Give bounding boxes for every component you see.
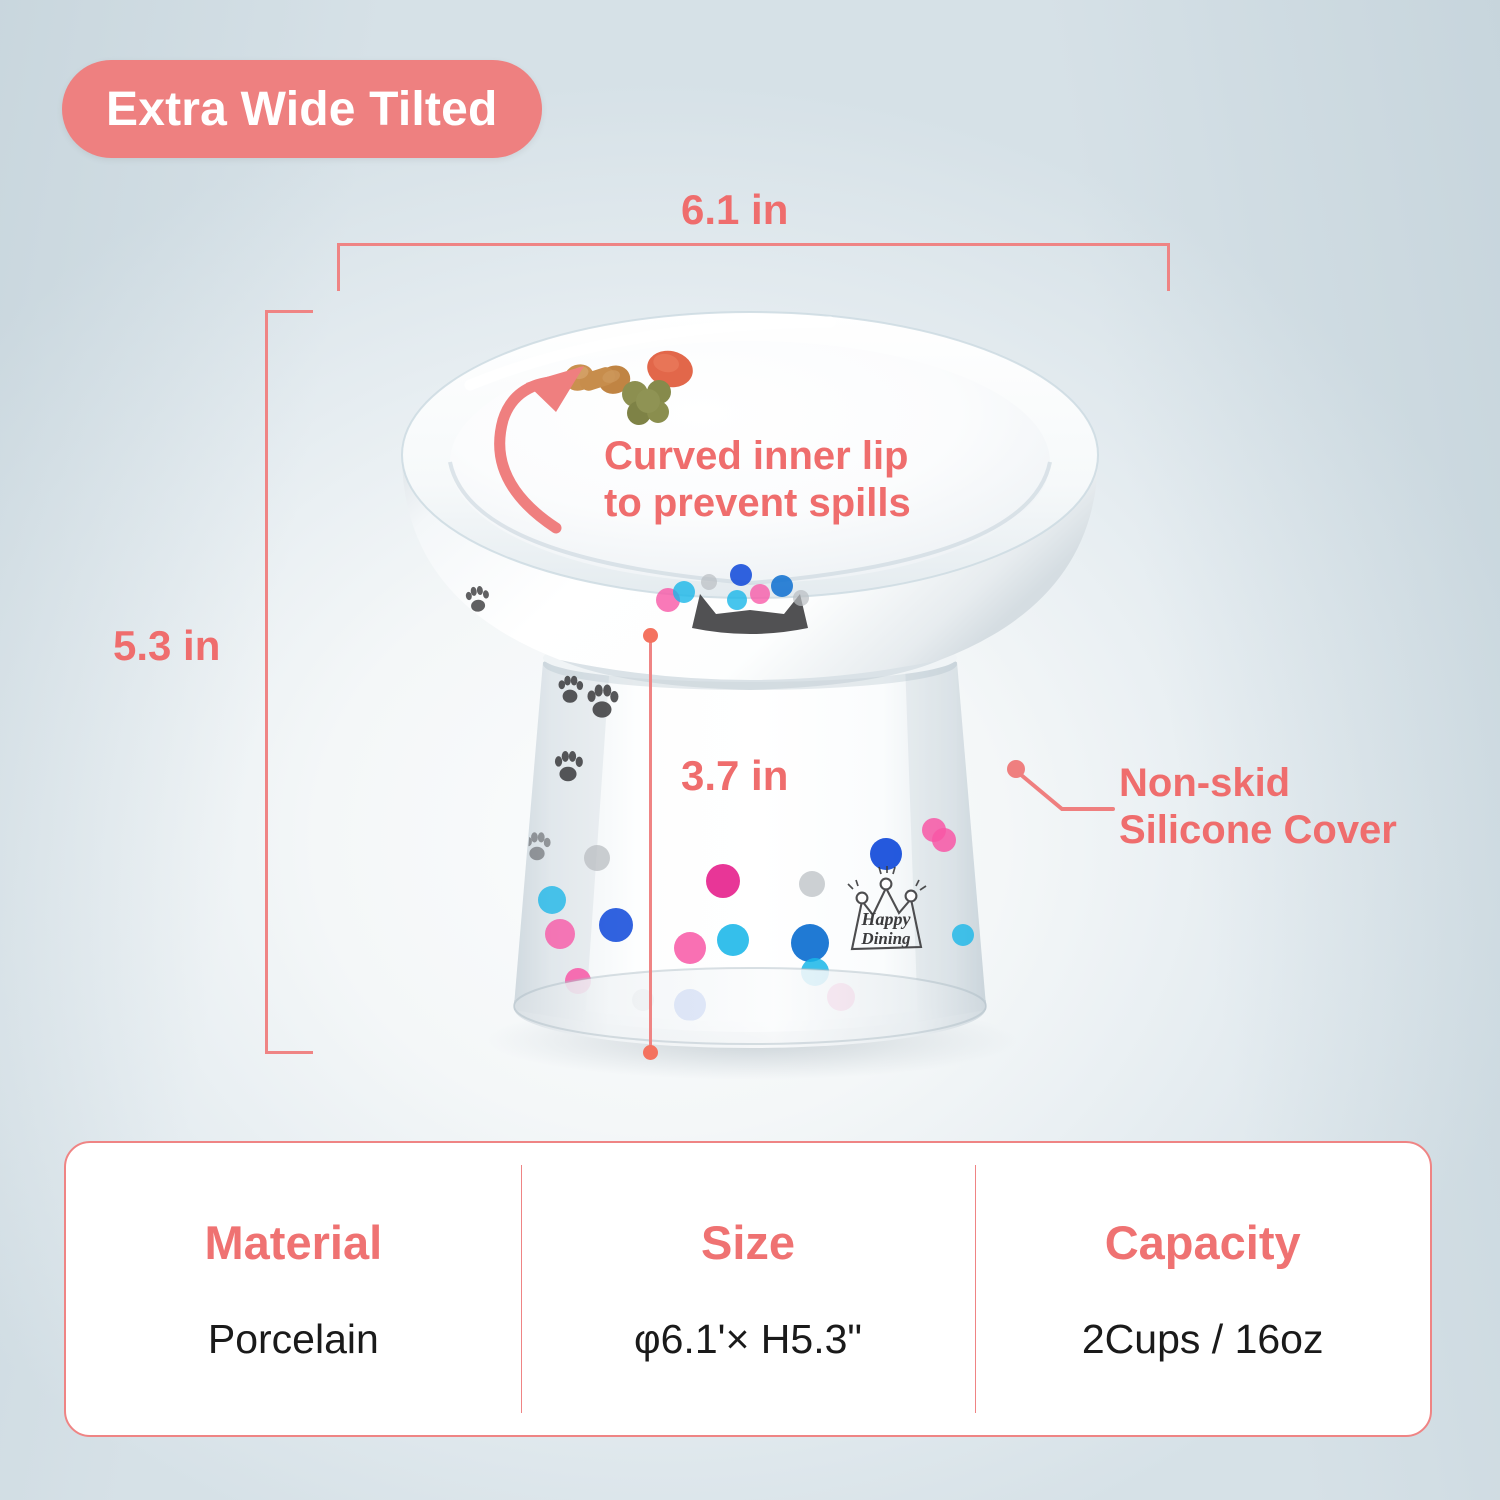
happy-dining-crown-text: Happy Dining (860, 909, 911, 948)
height-dimension-line (265, 310, 268, 1054)
spec-column-capacity: Capacity 2Cups / 16oz (975, 1143, 1430, 1435)
pedestal-dimension-dot-bottom (643, 1045, 658, 1060)
spec-value-capacity: 2Cups / 16oz (1082, 1316, 1324, 1363)
width-dimension-label: 6.1 in (681, 186, 788, 234)
spec-column-size: Size φ6.1'× H5.3" (521, 1143, 976, 1435)
silicone-leader-line (1000, 755, 1130, 830)
width-dimension-line (337, 243, 1170, 246)
width-dimension-tick-left (337, 243, 340, 291)
spec-value-material: Porcelain (208, 1316, 379, 1363)
spec-value-size: φ6.1'× H5.3" (634, 1316, 862, 1363)
feature-badge: Extra Wide Tilted (62, 60, 542, 158)
callout-curved-lip-line1: Curved inner lip (604, 433, 911, 480)
height-dimension-tick-bottom (265, 1051, 313, 1054)
callout-silicone-line2: Silicone Cover (1119, 807, 1397, 854)
callout-curved-lip: Curved inner lip to prevent spills (604, 433, 911, 527)
pedestal-dimension-line (649, 636, 652, 1054)
callout-curved-lip-line2: to prevent spills (604, 480, 911, 527)
silicone-base-ring (514, 968, 986, 1048)
svg-text:Dining: Dining (860, 929, 911, 948)
pedestal-dimension-dot-top (643, 628, 658, 643)
height-dimension-tick-top (265, 310, 313, 313)
infographic-canvas: Extra Wide Tilted (0, 0, 1500, 1500)
svg-text:Happy: Happy (861, 909, 912, 929)
spec-column-material: Material Porcelain (66, 1143, 521, 1435)
spec-header-size: Size (701, 1215, 795, 1270)
height-dimension-label: 5.3 in (113, 622, 220, 670)
callout-silicone-line1: Non-skid (1119, 760, 1397, 807)
spec-header-capacity: Capacity (1105, 1215, 1301, 1270)
pedestal-dimension-label: 3.7 in (681, 752, 788, 800)
feature-badge-label: Extra Wide Tilted (106, 82, 498, 137)
spec-table: Material Porcelain Size φ6.1'× H5.3" Cap… (64, 1141, 1432, 1437)
width-dimension-tick-right (1167, 243, 1170, 291)
callout-silicone-cover: Non-skid Silicone Cover (1119, 760, 1397, 854)
spec-header-material: Material (205, 1215, 383, 1270)
